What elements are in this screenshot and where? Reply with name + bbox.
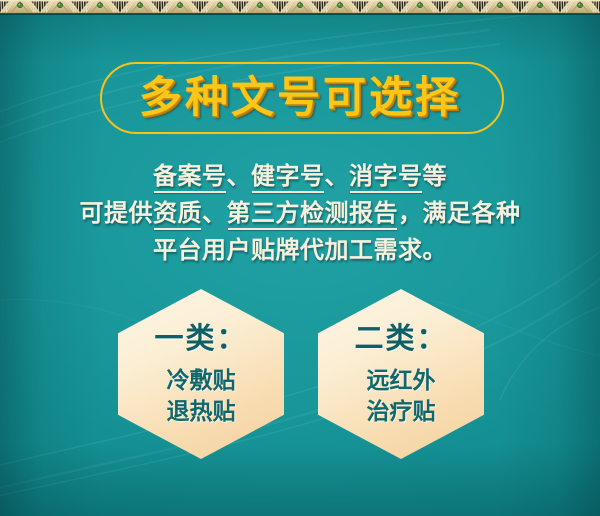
plain-text: 、 bbox=[202, 198, 227, 227]
description-line: 可提供资质、第三方检测报告，满足各种 bbox=[0, 194, 600, 231]
band-bottom-rule bbox=[0, 13, 600, 15]
top-ornament-band bbox=[0, 0, 600, 15]
plain-text: 可提供 bbox=[80, 198, 154, 227]
highlighted-term: 健字号 bbox=[251, 157, 325, 194]
plain-text: 、 bbox=[325, 161, 350, 190]
page-title: 多种文号可选择 bbox=[0, 56, 600, 140]
description-line: 备案号、健字号、消字号等 bbox=[0, 157, 600, 194]
highlighted-term: 第三方检测报告 bbox=[227, 194, 399, 231]
plain-text: 平台用户贴牌代加工需求。 bbox=[153, 235, 447, 264]
highlighted-term: 消字号 bbox=[349, 157, 423, 194]
description-line: 平台用户贴牌代加工需求。 bbox=[0, 231, 600, 268]
highlighted-term: 资质 bbox=[153, 194, 202, 231]
plain-text: ，满足各种 bbox=[398, 198, 521, 227]
plain-text: 等 bbox=[423, 161, 448, 190]
promo-banner: 多种文号可选择 备案号、健字号、消字号等 可提供资质、第三方检测报告，满足各种 … bbox=[0, 0, 600, 516]
plain-text: 、 bbox=[227, 161, 252, 190]
highlighted-term: 备案号 bbox=[153, 157, 227, 194]
description-paragraph: 备案号、健字号、消字号等 可提供资质、第三方检测报告，满足各种 平台用户贴牌代加… bbox=[0, 157, 600, 268]
